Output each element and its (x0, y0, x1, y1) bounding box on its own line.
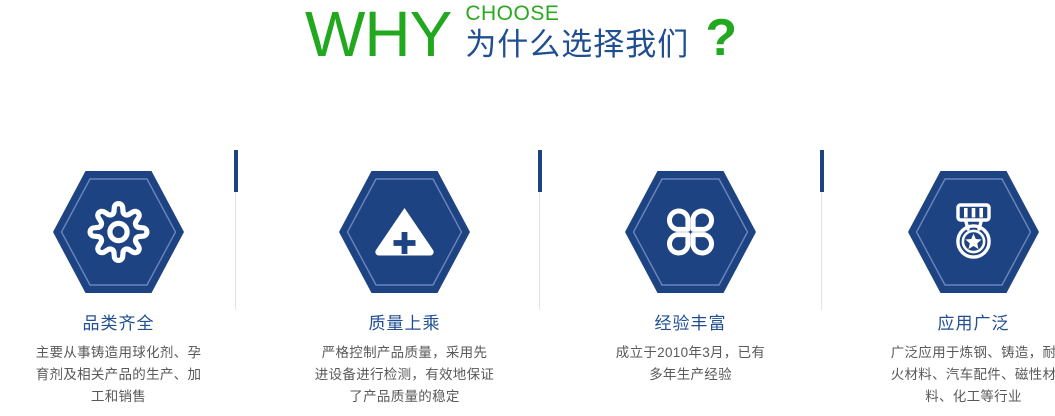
feature-desc-line: 多年生产经验 (577, 364, 804, 386)
feature-desc-line: 严格控制产品质量，采用先 (291, 342, 518, 364)
heading-why-text: WHY (305, 2, 451, 66)
feature-desc-line: 育剂及相关产品的生产、加 (5, 364, 232, 386)
feature-desc-line: 进设备进行检测，有效地保证 (291, 364, 518, 386)
feature-desc-line: 成立于2010年3月，已有 (577, 342, 804, 364)
divider-accent-segment (820, 150, 824, 192)
feature-desc-line: 主要从事铸造用球化剂、孕 (5, 342, 232, 364)
feature-card-1[interactable]: 品类齐全 主要从事铸造用球化剂、孕 育剂及相关产品的生产、加 工和销售 (0, 150, 242, 416)
clover-icon (624, 170, 757, 294)
heading-chinese-title: 为什么选择我们 (465, 27, 689, 63)
feature-desc-line: 广泛应用于炼钢、铸造，耐 (860, 342, 1055, 364)
heading-choose-text: CHOOSE (465, 2, 689, 26)
heading-question-mark: ? (705, 12, 737, 64)
feature-title: 经验丰富 (567, 314, 814, 334)
feature-card-3[interactable]: 经验丰富 成立于2010年3月，已有 多年生产经验 (567, 150, 814, 416)
column-divider-2 (538, 150, 542, 310)
why-choose-us-section: WHY CHOOSE 为什么选择我们 ? (0, 0, 1055, 416)
feature-description: 主要从事铸造用球化剂、孕 育剂及相关产品的生产、加 工和销售 (0, 342, 242, 408)
feature-card-2[interactable]: 质量上乘 严格控制产品质量，采用先 进设备进行检测，有效地保证 了产品质量的稳定 (281, 150, 528, 416)
feature-desc-line: 火材料、汽车配件、磁性材 (860, 364, 1055, 386)
section-heading: WHY CHOOSE 为什么选择我们 ? (0, 0, 1055, 92)
feature-desc-line: 料、化工等行业 (860, 386, 1055, 408)
feature-description: 成立于2010年3月，已有 多年生产经验 (567, 342, 814, 386)
hexagon-badge (624, 170, 757, 294)
gear-icon (52, 170, 185, 294)
column-divider-3 (820, 150, 824, 310)
medal-icon (907, 170, 1040, 294)
feature-description: 广泛应用于炼钢、铸造，耐 火材料、汽车配件、磁性材 料、化工等行业 (850, 342, 1055, 408)
feature-desc-line: 了产品质量的稳定 (291, 386, 518, 408)
feature-title: 应用广泛 (850, 314, 1055, 334)
divider-accent-segment (538, 150, 542, 192)
features-row: 品类齐全 主要从事铸造用球化剂、孕 育剂及相关产品的生产、加 工和销售 (0, 150, 1055, 416)
feature-title: 质量上乘 (281, 314, 528, 334)
feature-title: 品类齐全 (0, 314, 242, 334)
hexagon-badge (52, 170, 185, 294)
feature-desc-line: 工和销售 (5, 386, 232, 408)
divider-thin-line (539, 192, 540, 310)
triangle-plus-icon (338, 170, 471, 294)
hexagon-badge (338, 170, 471, 294)
feature-card-4[interactable]: 应用广泛 广泛应用于炼钢、铸造，耐 火材料、汽车配件、磁性材 料、化工等行业 (850, 150, 1055, 416)
feature-description: 严格控制产品质量，采用先 进设备进行检测，有效地保证 了产品质量的稳定 (281, 342, 528, 408)
divider-thin-line (821, 192, 822, 310)
hexagon-badge (907, 170, 1040, 294)
